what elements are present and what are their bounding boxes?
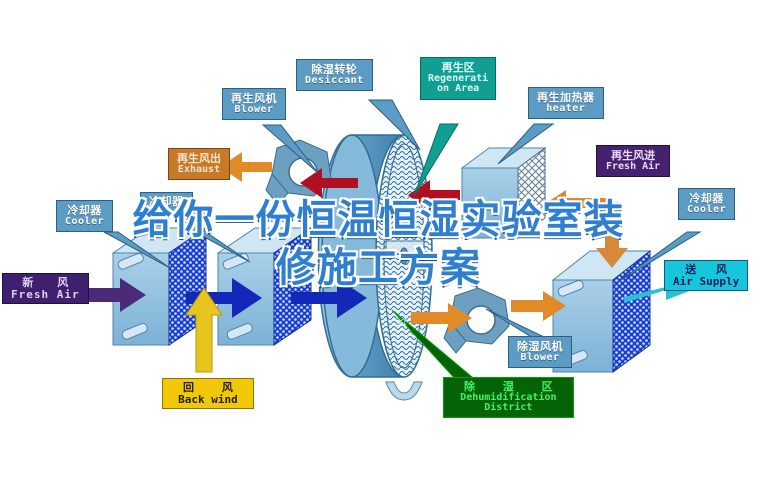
label-regen-heater[interactable]: 再生加热器 heater	[528, 87, 604, 119]
label-cooler-left-en: Cooler	[65, 217, 104, 228]
label-dehum-district-cn: 除 湿 区	[452, 381, 565, 393]
label-dehum-blower-en: Blower	[517, 353, 563, 364]
label-cooler-right[interactable]: 冷却器 Cooler	[678, 188, 735, 220]
label-air-supply-en: Air Supply	[673, 276, 739, 288]
label-regen-heater-cn: 再生加热器	[537, 92, 595, 104]
label-regeneration-area-cn: 再生区	[428, 62, 488, 74]
regeneration-heater	[462, 148, 545, 238]
label-regen-fresh-air-en: Fresh Air	[606, 162, 660, 173]
label-cooler-mid-cn: 冷却器	[149, 196, 184, 208]
label-fresh-air[interactable]: 新 风 Fresh Air	[2, 273, 89, 304]
label-back-wind-en: Back wind	[171, 394, 245, 406]
label-exhaust-en: Exhaust	[177, 165, 221, 176]
label-dehum-blower-cn: 除湿风机	[517, 341, 563, 353]
label-cooler-mid[interactable]: 冷却器	[140, 192, 193, 212]
label-fresh-air-cn: 新 风	[11, 277, 80, 289]
label-regen-blower-en: Blower	[231, 105, 277, 116]
label-desiccant-en: Desiccant	[305, 76, 364, 87]
label-fresh-air-en: Fresh Air	[11, 289, 80, 301]
diagram-canvas: xt 除湿转轮 Desiccant 再生风机 Blower 再生风出 Exhau…	[0, 0, 757, 488]
label-air-supply-cn: 送 风	[673, 264, 739, 276]
label-dehum-blower[interactable]: 除湿风机 Blower	[508, 336, 572, 368]
label-regen-heater-en: heater	[537, 104, 595, 115]
label-cooler-right-en: Cooler	[687, 205, 726, 216]
label-cooler-right-cn: 冷却器	[687, 193, 726, 205]
label-back-wind-cn: 回 风	[171, 382, 245, 394]
desiccant-rotor	[318, 135, 432, 400]
cooler-unit-2	[218, 228, 311, 345]
label-back-wind[interactable]: 回 风 Back wind	[162, 378, 254, 409]
label-regen-blower[interactable]: 再生风机 Blower	[222, 88, 286, 120]
label-regeneration-area[interactable]: 再生区 Regenerati on Area	[420, 57, 496, 100]
label-exhaust-cn: 再生风出	[177, 153, 221, 165]
rotor-watermark: xt	[398, 316, 407, 328]
label-regen-fresh-air-cn: 再生风进	[606, 150, 660, 162]
label-regen-fresh-air[interactable]: 再生风进 Fresh Air	[596, 145, 670, 177]
schematic-illustration: xt	[0, 0, 757, 488]
label-exhaust[interactable]: 再生风出 Exhaust	[168, 148, 230, 180]
label-regeneration-area-en2: on Area	[428, 84, 488, 95]
label-air-supply[interactable]: 送 风 Air Supply	[664, 260, 748, 291]
label-cooler-left[interactable]: 冷却器 Cooler	[56, 200, 113, 232]
label-regen-blower-cn: 再生风机	[231, 93, 277, 105]
label-desiccant[interactable]: 除湿转轮 Desiccant	[296, 59, 373, 91]
label-cooler-left-cn: 冷却器	[65, 205, 104, 217]
label-desiccant-cn: 除湿转轮	[305, 64, 364, 76]
label-dehum-district-en2: District	[452, 403, 565, 414]
label-dehumidification-district[interactable]: 除 湿 区 Dehumidification District	[443, 377, 574, 418]
